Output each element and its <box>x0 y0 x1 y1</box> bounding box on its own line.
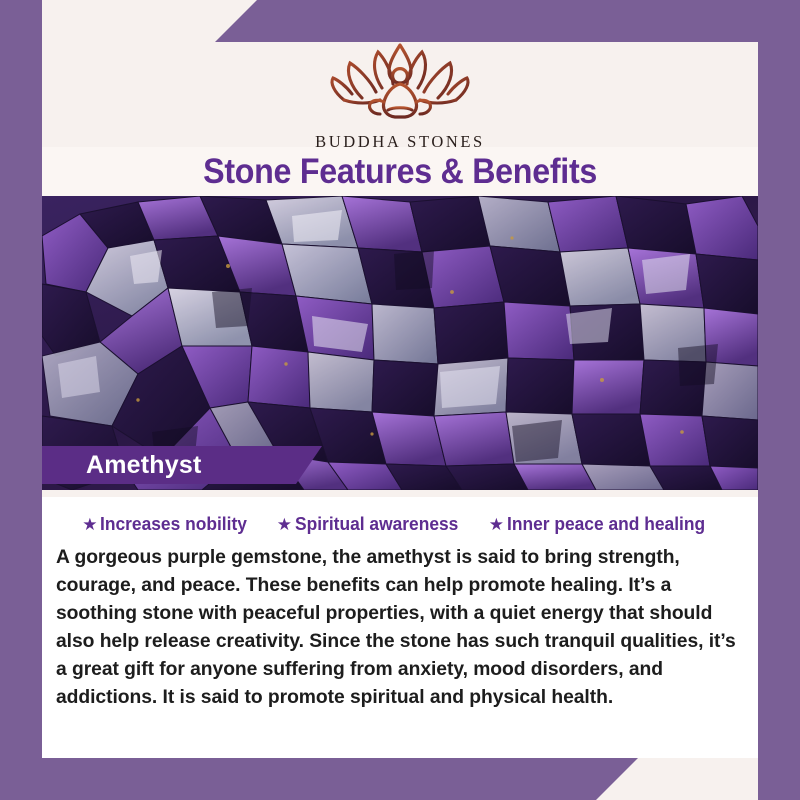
star-icon: ★ <box>277 516 292 533</box>
stone-description: A gorgeous purple gemstone, the amethyst… <box>56 544 744 712</box>
star-icon: ★ <box>489 516 504 533</box>
title-band: Stone Features & Benefits <box>42 147 758 196</box>
page-title: Stone Features & Benefits <box>203 152 597 192</box>
inner-card: BUDDHA STONES Stone Features & Benefits <box>42 42 758 758</box>
star-icon: ★ <box>82 516 97 533</box>
frame-right-band <box>758 0 800 800</box>
benefit-item: ★ Spiritual awareness <box>277 513 469 535</box>
frame-left-band <box>0 0 42 800</box>
benefits-row: ★ Increases nobility ★ Spiritual awarene… <box>42 497 758 535</box>
stone-name: Amethyst <box>86 451 202 480</box>
brand-logo: BUDDHA STONES <box>42 42 758 150</box>
frame-top-band <box>215 0 800 42</box>
content-panel: ★ Increases nobility ★ Spiritual awarene… <box>42 497 758 758</box>
amethyst-photo <box>42 196 758 490</box>
stone-name-banner: Amethyst <box>42 446 322 484</box>
benefit-item: ★ Inner peace and healing <box>489 513 718 535</box>
lotus-meditation-figure-icon <box>300 42 500 131</box>
infographic-page: BUDDHA STONES Stone Features & Benefits <box>0 0 800 800</box>
benefit-label: Spiritual awareness <box>295 513 458 535</box>
benefit-item: ★ Increases nobility <box>82 513 257 535</box>
benefit-label: Inner peace and healing <box>507 513 705 535</box>
benefit-label: Increases nobility <box>100 513 247 535</box>
frame-bottom-band <box>0 758 638 800</box>
